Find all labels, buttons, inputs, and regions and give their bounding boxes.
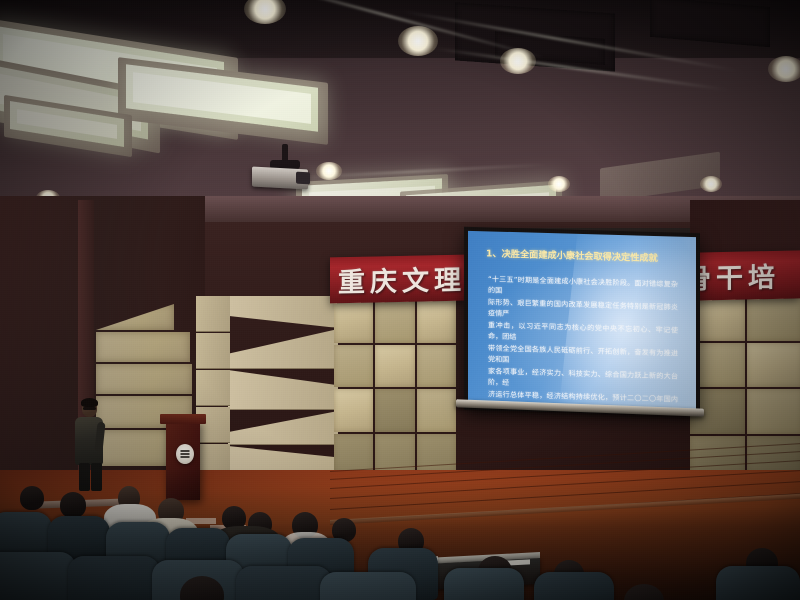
ceiling-downlight: [398, 26, 438, 56]
chevron-panel: [196, 296, 230, 332]
presenter-arm: [94, 422, 105, 453]
auditorium-seat: [534, 572, 614, 600]
podium-emblem-icon: [176, 444, 194, 464]
presenter-hair: [81, 398, 98, 407]
auditorium-photo: 重庆文理 团骨干培 1、决胜全面建成小康社会取得决定性成就 “十三五”时期是全面…: [0, 0, 800, 600]
ceiling-downlight: [768, 56, 800, 82]
auditorium-seat: [68, 556, 160, 600]
auditorium-seat: [716, 566, 800, 600]
chevron-panel: [196, 333, 230, 369]
ceiling-downlight: [700, 176, 722, 192]
wall-tile: [417, 300, 456, 343]
wall-tile: [375, 389, 414, 432]
slide-surface: 1、决胜全面建成小康社会取得决定性成就 “十三五”时期是全面建成小康社会决胜阶段…: [468, 231, 696, 412]
slide-body: “十三五”时期是全面建成小康社会决胜阶段。面对错综复杂的国 际形势、艰巨繁重的国…: [488, 273, 678, 412]
auditorium-seat: [444, 568, 524, 600]
chevron-panel-group: [228, 296, 338, 476]
wall-tile: [375, 300, 414, 343]
chevron-panel: [196, 370, 230, 406]
auditorium-seat: [0, 552, 76, 600]
projection-screen[interactable]: 1、决胜全面建成小康社会取得决定性成就 “十三五”时期是全面建成小康社会决胜阶段…: [464, 227, 700, 417]
chevron-panel: [228, 370, 338, 410]
wall-tile: [747, 389, 800, 434]
wall-tile: [747, 296, 800, 341]
wall-tile: [334, 345, 373, 388]
banner-left-text: 重庆文理: [338, 258, 466, 300]
wall-panel-beige: [96, 332, 190, 362]
wall-tile: [334, 300, 373, 343]
wall-tile: [417, 345, 456, 388]
ceiling: [0, 0, 800, 215]
chevron-panel: [228, 411, 338, 445]
wall-tile: [417, 389, 456, 432]
wall-tile: [375, 345, 414, 388]
light-panel-frame: [600, 152, 720, 203]
wall-tile: [334, 389, 373, 432]
chevron-panel-edge-group: [196, 296, 230, 476]
podium-top: [160, 414, 206, 424]
wall-panel-beige: [96, 364, 192, 394]
projector-lens: [296, 172, 310, 185]
auditorium-seat: [320, 572, 416, 600]
audience-head: [20, 486, 44, 510]
banner-left-segment: 重庆文理: [330, 255, 464, 304]
presenter-glasses: [83, 407, 96, 410]
chevron-panel: [228, 329, 338, 369]
wall-tile: [747, 343, 800, 388]
ceiling-downlight: [548, 176, 570, 192]
tile-wall-left: [334, 300, 456, 476]
audience-head: [60, 492, 86, 518]
chevron-panel: [228, 296, 338, 328]
chevron-panel: [196, 407, 230, 443]
auditorium-seat: [236, 566, 332, 600]
